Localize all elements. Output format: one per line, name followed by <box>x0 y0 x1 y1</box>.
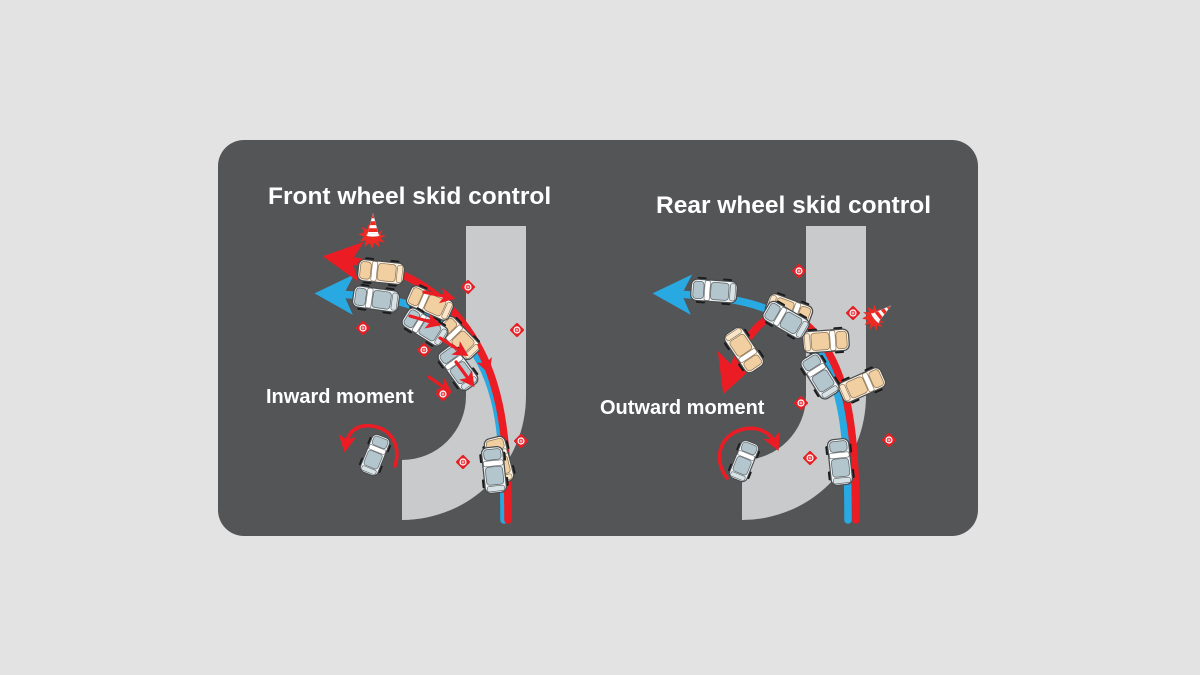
skid-control-illustration: Front wheel skid control Inward moment <box>0 0 1200 675</box>
inward-moment-label: Inward moment <box>266 386 414 408</box>
moment-demo-vehicle <box>356 432 393 478</box>
controlled-vehicle <box>690 276 738 306</box>
brake-indicator-icon <box>881 432 896 447</box>
controlled-vehicle <box>478 446 510 494</box>
front-wheel-skid-scene: Front wheel skid control Inward moment <box>266 183 551 520</box>
skid-vehicle <box>720 323 768 376</box>
brake-indicator-icon <box>355 320 370 335</box>
controlled-vehicle <box>351 282 400 315</box>
outward-moment-label: Outward moment <box>600 397 765 419</box>
brake-indicator-icon <box>791 263 806 278</box>
diagram-canvas: Front wheel skid control Inward moment <box>0 0 1200 675</box>
inward-moment-demo <box>346 426 397 478</box>
skid-vehicle <box>802 326 850 356</box>
brake-indicator-icon <box>435 386 450 401</box>
skid-vehicle <box>357 256 405 288</box>
rear-wheel-skid-scene: Rear wheel skid control Outward moment <box>600 192 931 520</box>
traffic-cone-icon <box>358 214 386 249</box>
controlled-vehicle <box>824 438 856 486</box>
rear-panel-title: Rear wheel skid control <box>656 192 931 219</box>
front-panel-title: Front wheel skid control <box>268 183 551 210</box>
